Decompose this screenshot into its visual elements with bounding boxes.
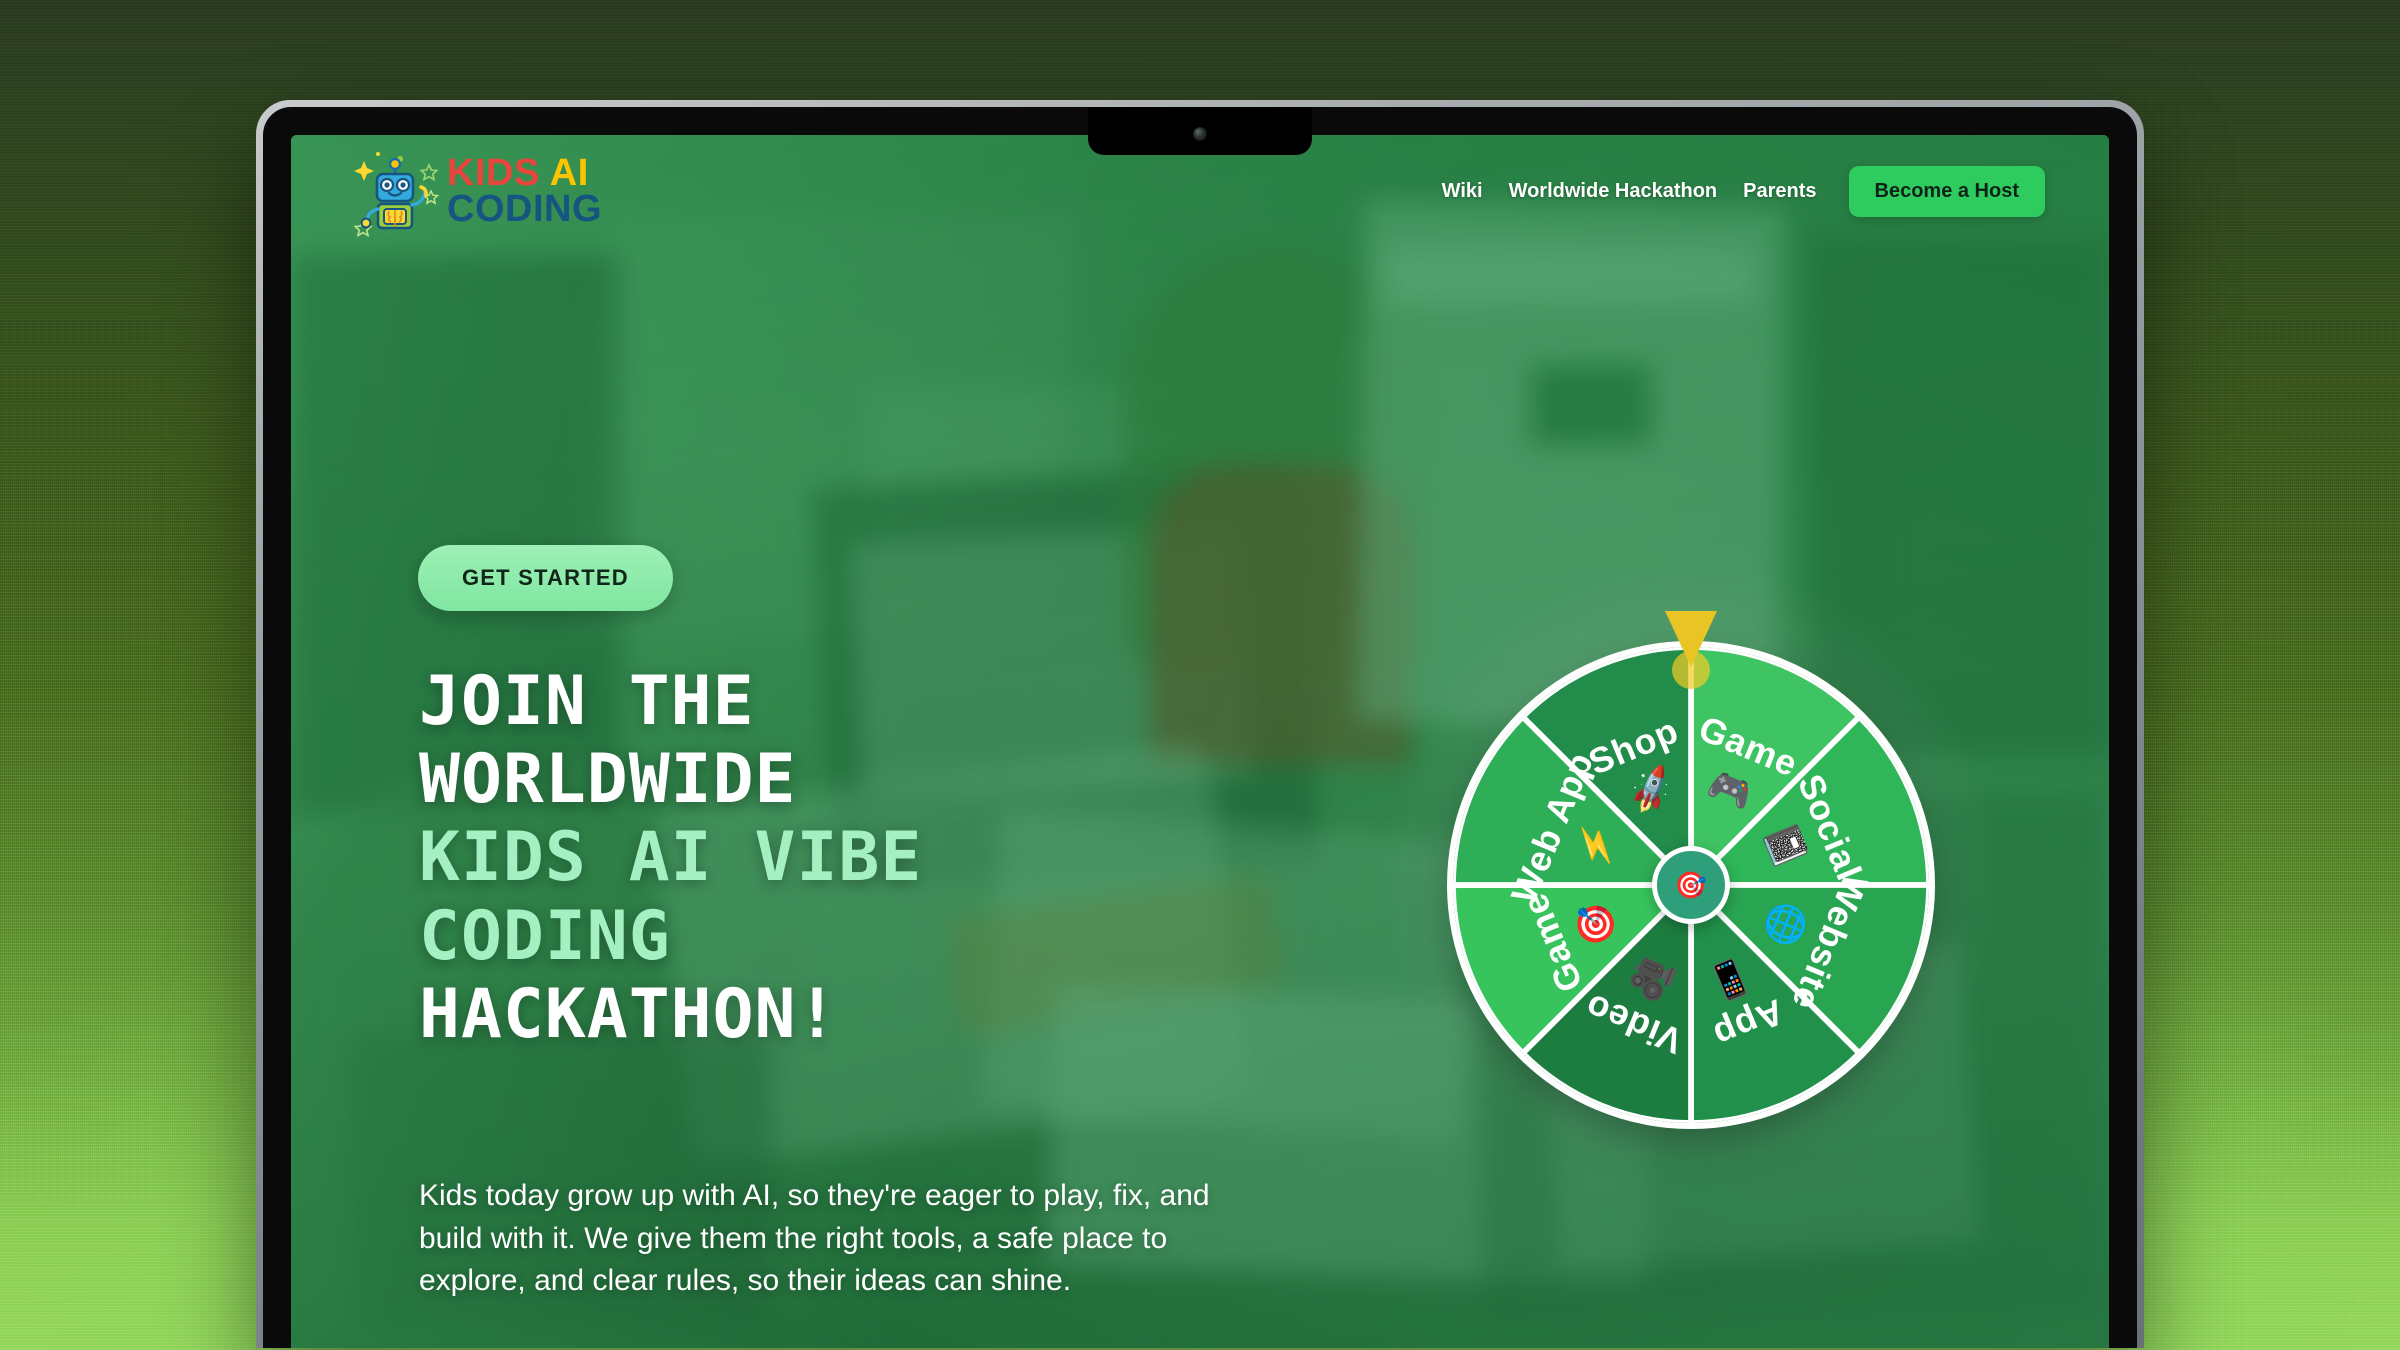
laptop-device-frame: KIDSAI CODING Wiki Worldwide Hackathon P… [256, 100, 2144, 1348]
laptop-bezel: KIDSAI CODING Wiki Worldwide Hackathon P… [263, 107, 2137, 1348]
hero-paragraph: Kids today grow up with AI, so they're e… [419, 1175, 1239, 1303]
nav-link-worldwide-hackathon[interactable]: Worldwide Hackathon [1509, 180, 1718, 203]
site-logo[interactable]: KIDSAI CODING [351, 145, 602, 237]
get-started-button[interactable]: GET STARTED [418, 545, 673, 611]
headline-line-3: KIDS AI VIBE [419, 819, 922, 897]
headline-line-5: HACKATHON! [419, 976, 922, 1054]
hero-section: GET STARTED JOIN THE WORLDWIDE KIDS AI V… [291, 135, 2109, 1348]
logo-text-coding: CODING [447, 188, 602, 230]
nav-link-wiki[interactable]: Wiki [1442, 180, 1483, 203]
become-a-host-button[interactable]: Become a Host [1849, 166, 2046, 217]
main-navigation: Wiki Worldwide Hackathon Parents Become … [1442, 166, 2045, 217]
wheel-pointer-icon [1665, 611, 1717, 667]
browser-screen: KIDSAI CODING Wiki Worldwide Hackathon P… [291, 135, 2109, 1348]
logo-wordmark: KIDSAI CODING [447, 155, 602, 228]
page-title: JOIN THE WORLDWIDE KIDS AI VIBE CODING H… [419, 663, 922, 1054]
spin-wheel[interactable]: Game🎮Social📓Website🌐App📱Video🎥Game🎯Web A… [1431, 605, 1951, 1125]
headline-line-1: JOIN THE [419, 663, 922, 741]
robot-mascot-icon [351, 145, 443, 237]
wheel-hub-target-icon[interactable]: 🎯 [1652, 846, 1730, 924]
headline-line-2: WORLDWIDE [419, 741, 922, 819]
nav-link-parents[interactable]: Parents [1743, 180, 1816, 203]
headline-line-4: CODING [419, 898, 922, 976]
laptop-notch [1088, 107, 1312, 155]
webcam-icon [1193, 127, 1207, 141]
